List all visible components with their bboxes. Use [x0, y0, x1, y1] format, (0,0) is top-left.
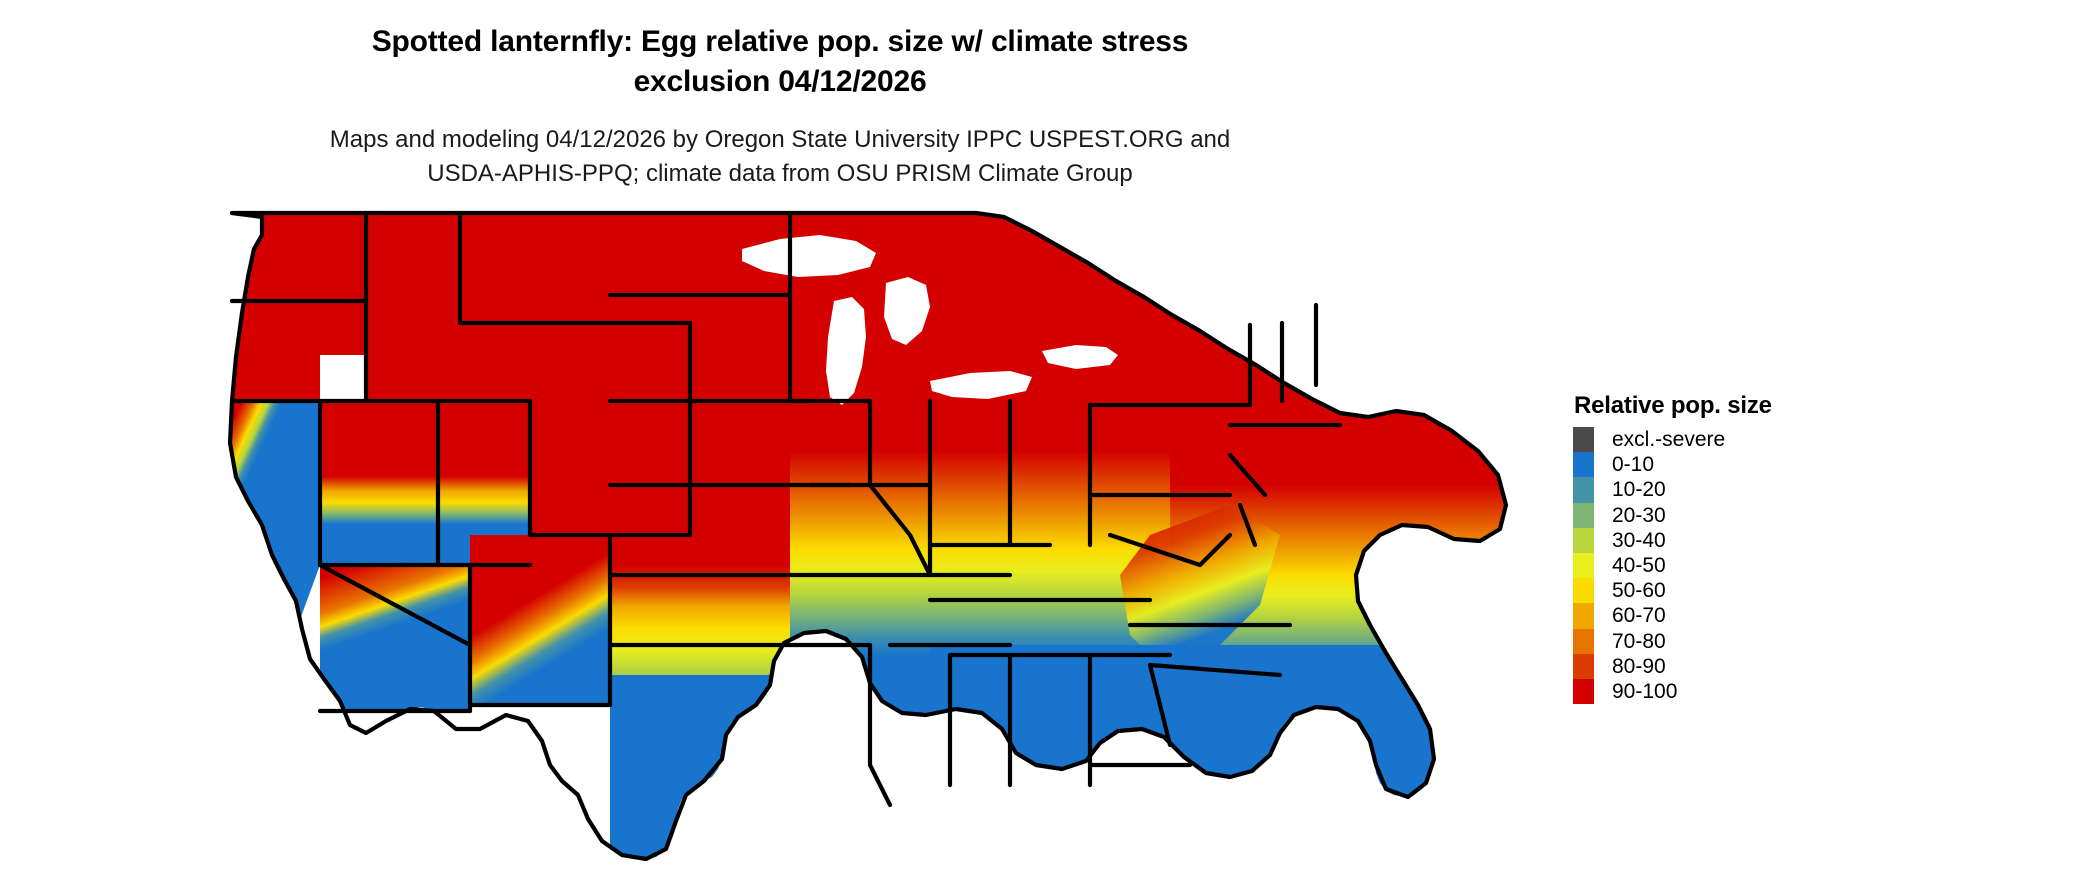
- legend-row: 20-30: [1573, 503, 1903, 528]
- legend-swatch: [1573, 629, 1594, 654]
- legend-swatch: [1573, 528, 1594, 553]
- legend-label: 40-50: [1612, 553, 1666, 578]
- map-legend: Relative pop. size excl.-severe0-1010-20…: [1573, 392, 1903, 704]
- legend-label: 90-100: [1612, 679, 1677, 704]
- legend-row: 0-10: [1573, 452, 1903, 477]
- legend-swatch: [1573, 679, 1594, 704]
- legend-swatch: [1573, 654, 1594, 679]
- figure-title: Spotted lanternfly: Egg relative pop. si…: [0, 22, 1560, 101]
- map-figure: Spotted lanternfly: Egg relative pop. si…: [0, 0, 2100, 892]
- legend-row: 90-100: [1573, 679, 1903, 704]
- subtitle-line-1: Maps and modeling 04/12/2026 by Oregon S…: [330, 126, 1230, 153]
- legend-items: excl.-severe0-1010-2020-3030-4040-5050-6…: [1573, 427, 1903, 704]
- legend-label: excl.-severe: [1612, 427, 1725, 452]
- legend-label: 80-90: [1612, 654, 1666, 679]
- legend-row: 10-20: [1573, 477, 1903, 502]
- legend-title: Relative pop. size: [1574, 392, 1903, 420]
- figure-subtitle: Maps and modeling 04/12/2026 by Oregon S…: [0, 123, 1560, 191]
- legend-swatch: [1573, 477, 1594, 502]
- region-northern-plains: [366, 213, 790, 401]
- us-choropleth-map: [170, 205, 1560, 885]
- legend-label: 10-20: [1612, 477, 1666, 502]
- region-arizona: [320, 565, 470, 711]
- legend-label: 60-70: [1612, 603, 1666, 628]
- legend-label: 0-10: [1612, 452, 1654, 477]
- legend-label: 70-80: [1612, 629, 1666, 654]
- legend-swatch: [1573, 427, 1594, 452]
- legend-row: 80-90: [1573, 654, 1903, 679]
- legend-swatch: [1573, 553, 1594, 578]
- legend-row: excl.-severe: [1573, 427, 1903, 452]
- region-oregon: [232, 301, 320, 401]
- legend-swatch: [1573, 603, 1594, 628]
- region-new-mexico: [470, 535, 610, 705]
- legend-swatch: [1573, 503, 1594, 528]
- legend-label: 20-30: [1612, 503, 1666, 528]
- legend-row: 40-50: [1573, 553, 1903, 578]
- legend-row: 70-80: [1573, 629, 1903, 654]
- subtitle-line-2: USDA-APHIS-PPQ; climate data from OSU PR…: [0, 157, 1560, 191]
- legend-row: 30-40: [1573, 528, 1903, 553]
- legend-swatch: [1573, 578, 1594, 603]
- title-line-2: exclusion 04/12/2026: [0, 62, 1560, 102]
- legend-swatch: [1573, 452, 1594, 477]
- legend-label: 30-40: [1612, 528, 1666, 553]
- title-line-1: Spotted lanternfly: Egg relative pop. si…: [372, 25, 1189, 58]
- legend-label: 50-60: [1612, 578, 1666, 603]
- legend-row: 50-60: [1573, 578, 1903, 603]
- legend-row: 60-70: [1573, 603, 1903, 628]
